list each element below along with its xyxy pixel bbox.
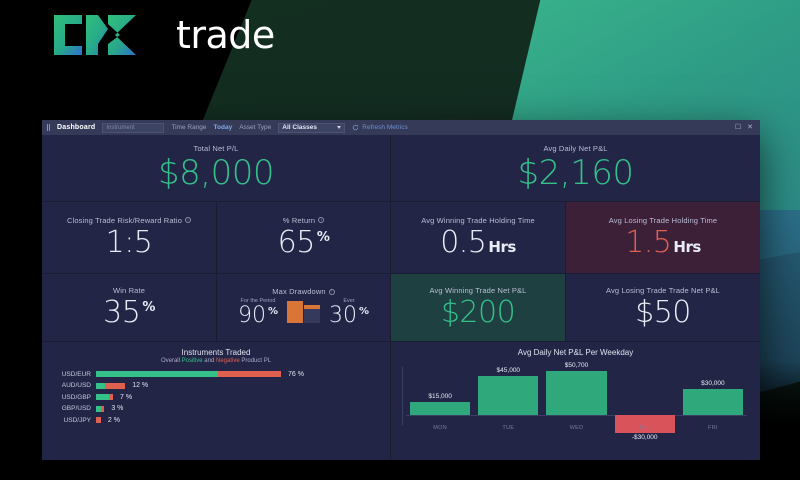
weekday-pl-panel: Avg Daily Net P&L Per Weekday $15,000MON… bbox=[391, 342, 760, 460]
subtitle-middle: and bbox=[203, 358, 216, 364]
kpi-row-2: Closing Trade Risk/Reward Ratio i 1:5 % … bbox=[42, 202, 760, 274]
instruments-traded-panel: Instruments Traded Overall Positive and … bbox=[42, 342, 391, 460]
info-icon[interactable]: i bbox=[318, 217, 324, 223]
pct-return-value: 65% bbox=[278, 225, 330, 260]
max-drawdown-ever-number: 30 bbox=[329, 303, 357, 328]
avg-lose-hold-number: 1.5 bbox=[625, 225, 671, 260]
window-title: Dashboard bbox=[57, 124, 95, 131]
win-rate-number: 35 bbox=[103, 295, 140, 330]
dashboard-content: Total Net P/L $8,000 Avg Daily Net P&L $… bbox=[42, 135, 760, 460]
pct-return-label: % Return bbox=[283, 216, 315, 225]
chart-bar-label: $45,000 bbox=[474, 367, 542, 374]
instrument-name: AUD/USD bbox=[51, 382, 91, 389]
instrument-percent: 7 % bbox=[120, 394, 132, 401]
screenshot-root: trade Dashboard Instrument Time Range To… bbox=[0, 0, 800, 480]
win-rate-unit: % bbox=[142, 300, 155, 315]
avg-win-hold-value: 0.5Hrs bbox=[440, 225, 516, 260]
asset-type-select[interactable]: All Classes bbox=[278, 123, 345, 133]
tile-avg-daily-net-pl[interactable]: Avg Daily Net P&L $2,160 bbox=[391, 135, 760, 202]
close-icon[interactable]: ✕ bbox=[747, 124, 753, 131]
tile-pct-return[interactable]: % Return i 65% bbox=[217, 202, 391, 274]
instrument-percent: 12 % bbox=[132, 382, 148, 389]
instrument-bar-positive bbox=[96, 371, 218, 377]
tile-total-net-pl[interactable]: Total Net P/L $8,000 bbox=[42, 135, 391, 202]
risk-reward-value: 1:5 bbox=[106, 225, 153, 260]
chart-bar-positive bbox=[683, 389, 743, 415]
bottom-panels: Instruments Traded Overall Positive and … bbox=[42, 342, 760, 460]
avg-win-net-pl-value: $200 bbox=[441, 295, 515, 330]
weekday-bar-chart: $15,000MON$45,000TUE$50,700WED-$30,000TH… bbox=[400, 361, 751, 439]
avg-lose-hold-value: 1.5Hrs bbox=[625, 225, 701, 260]
info-icon[interactable]: i bbox=[329, 289, 335, 295]
chart-column[interactable]: $30,000FRI bbox=[679, 361, 747, 439]
chart-bar-positive bbox=[478, 376, 538, 415]
instruments-list: USD/EUR76 %AUD/USD12 %USD/GBP7 %GBP/USD3… bbox=[51, 370, 381, 424]
kpi-row-3: Win Rate 35% Max Drawdown i For the Peri… bbox=[42, 274, 760, 342]
pct-return-unit: % bbox=[317, 230, 330, 245]
instrument-name: USD/EUR bbox=[51, 371, 91, 378]
chart-bar-label: $30,000 bbox=[679, 380, 747, 387]
avg-lose-net-pl-label: Avg Losing Trade Trade Net P&L bbox=[606, 286, 720, 295]
max-drawdown-label: Max Drawdown bbox=[272, 287, 325, 296]
info-icon[interactable]: i bbox=[185, 217, 191, 223]
total-net-pl-value: $8,000 bbox=[158, 153, 274, 193]
total-net-pl-label: Total Net P/L bbox=[194, 144, 239, 153]
tile-avg-losing-holding-time[interactable]: Avg Losing Trade Holding Time 1.5Hrs bbox=[566, 202, 760, 274]
instrument-row[interactable]: USD/GBP7 % bbox=[51, 393, 381, 401]
window-titlebar: Dashboard Instrument Time Range Today As… bbox=[42, 120, 760, 135]
asset-type-value: All Classes bbox=[282, 124, 317, 131]
chart-x-tick-label: THU bbox=[611, 425, 679, 431]
instrument-bar-positive bbox=[96, 383, 105, 389]
kpi-row-1: Total Net P/L $8,000 Avg Daily Net P&L $… bbox=[42, 135, 760, 202]
dx-mark-icon bbox=[52, 13, 170, 57]
max-drawdown-composite: For the Period 90% Ever 30% bbox=[238, 298, 369, 328]
instrument-bar bbox=[96, 394, 113, 400]
drawdown-bar-ever bbox=[304, 305, 320, 323]
tile-avg-winning-net-pl[interactable]: Avg Winning Trade Net P&L $200 bbox=[391, 274, 566, 342]
chart-column[interactable]: $15,000MON bbox=[406, 361, 474, 439]
instrument-bar-negative bbox=[105, 383, 126, 389]
instrument-bar bbox=[96, 406, 104, 412]
avg-win-hold-number: 0.5 bbox=[440, 225, 486, 260]
max-drawdown-ever-value: 30% bbox=[329, 303, 369, 328]
tile-avg-winning-holding-time[interactable]: Avg Winning Trade Holding Time 0.5Hrs bbox=[391, 202, 566, 274]
avg-win-hold-unit: Hrs bbox=[488, 238, 515, 256]
win-rate-label: Win Rate bbox=[113, 286, 145, 295]
refresh-metrics-button[interactable]: Refresh Metrics bbox=[352, 124, 408, 131]
instrument-row[interactable]: AUD/USD12 % bbox=[51, 382, 381, 390]
instrument-bar-negative bbox=[96, 417, 101, 423]
chevron-down-icon bbox=[337, 126, 341, 129]
chart-column[interactable]: $45,000TUE bbox=[474, 361, 542, 439]
chart-bar-label: -$30,000 bbox=[611, 434, 679, 441]
avg-win-net-pl-label: Avg Winning Trade Net P&L bbox=[430, 286, 527, 295]
time-range-label: Time Range bbox=[171, 124, 206, 131]
avg-daily-net-pl-value: $2,160 bbox=[518, 153, 634, 193]
instrument-bar bbox=[96, 371, 281, 377]
instrument-name: GBP/USD bbox=[51, 405, 91, 412]
window-controls: ☐ ✕ bbox=[735, 124, 755, 131]
instrument-bar-negative bbox=[218, 371, 281, 377]
instrument-bar bbox=[96, 383, 125, 389]
chart-x-tick-label: MON bbox=[406, 425, 474, 431]
instrument-bar-positive bbox=[96, 394, 109, 400]
instrument-percent: 3 % bbox=[111, 405, 123, 412]
avg-daily-net-pl-label: Avg Daily Net P&L bbox=[543, 144, 607, 153]
instruments-panel-subtitle: Overall Positive and Negative Product PL bbox=[51, 358, 381, 364]
instrument-bar-negative bbox=[101, 406, 104, 412]
max-drawdown-ever: Ever 30% bbox=[329, 298, 369, 328]
tile-risk-reward-ratio[interactable]: Closing Trade Risk/Reward Ratio i 1:5 bbox=[42, 202, 217, 274]
max-drawdown-ever-unit: % bbox=[359, 306, 369, 317]
asset-type-label: Asset Type bbox=[239, 124, 271, 131]
time-range-value[interactable]: Today bbox=[214, 124, 233, 131]
tile-avg-losing-net-pl[interactable]: Avg Losing Trade Trade Net P&L $50 bbox=[566, 274, 760, 342]
chart-x-tick-label: TUE bbox=[474, 425, 542, 431]
instrument-row[interactable]: USD/JPY2 % bbox=[51, 416, 381, 424]
instrument-bar-negative bbox=[109, 394, 113, 400]
chart-x-tick-label: FRI bbox=[679, 425, 747, 431]
avg-lose-net-pl-value: $50 bbox=[635, 295, 691, 330]
chart-x-tick-label: WED bbox=[542, 425, 610, 431]
win-rate-value: 35% bbox=[103, 295, 155, 330]
brand-logo: trade bbox=[52, 8, 275, 62]
dashboard-window: Dashboard Instrument Time Range Today As… bbox=[42, 120, 760, 460]
weekday-chart-title: Avg Daily Net P&L Per Weekday bbox=[400, 348, 751, 357]
instruments-panel-title: Instruments Traded bbox=[51, 348, 381, 357]
subtitle-positive: Positive bbox=[182, 358, 203, 364]
chart-bar-label: $15,000 bbox=[406, 393, 474, 400]
instrument-bar bbox=[96, 417, 101, 423]
brand-wordmark: trade bbox=[176, 13, 275, 57]
subtitle-suffix: Product PL bbox=[240, 358, 271, 364]
avg-lose-hold-label: Avg Losing Trade Holding Time bbox=[609, 216, 717, 225]
chart-y-axis bbox=[402, 367, 403, 425]
avg-lose-hold-unit: Hrs bbox=[673, 238, 700, 256]
instrument-row[interactable]: USD/EUR76 % bbox=[51, 370, 381, 378]
maximize-icon[interactable]: ☐ bbox=[735, 124, 741, 131]
drag-grip-icon[interactable] bbox=[47, 124, 50, 131]
instrument-name: USD/GBP bbox=[51, 394, 91, 401]
instrument-row[interactable]: GBP/USD3 % bbox=[51, 405, 381, 413]
risk-reward-label: Closing Trade Risk/Reward Ratio bbox=[67, 216, 182, 225]
max-drawdown-bar-icon bbox=[287, 301, 320, 323]
max-drawdown-period-number: 90 bbox=[238, 303, 266, 328]
refresh-metrics-label: Refresh Metrics bbox=[362, 124, 408, 131]
chart-column[interactable]: $50,700WED bbox=[542, 361, 610, 439]
pct-return-number: 65 bbox=[278, 225, 315, 260]
avg-win-hold-label: Avg Winning Trade Holding Time bbox=[421, 216, 535, 225]
chart-columns: $15,000MON$45,000TUE$50,700WED-$30,000TH… bbox=[406, 361, 747, 439]
chart-bar-positive bbox=[546, 371, 606, 415]
refresh-icon bbox=[352, 124, 359, 131]
subtitle-prefix: Overall bbox=[161, 358, 182, 364]
chart-bar-label: $50,700 bbox=[542, 362, 610, 369]
instrument-name: USD/JPY bbox=[51, 417, 91, 424]
tile-win-rate[interactable]: Win Rate 35% bbox=[42, 274, 217, 342]
chart-column[interactable]: -$30,000THU bbox=[611, 361, 679, 439]
max-drawdown-period-value: 90% bbox=[238, 303, 278, 328]
drawdown-bar-period bbox=[287, 301, 303, 323]
max-drawdown-period-unit: % bbox=[268, 306, 278, 317]
instrument-percent: 2 % bbox=[108, 417, 120, 424]
instrument-input[interactable]: Instrument bbox=[102, 123, 164, 133]
chart-bar-positive bbox=[410, 402, 470, 415]
instrument-percent: 76 % bbox=[288, 371, 304, 378]
max-drawdown-period: For the Period 90% bbox=[238, 298, 278, 328]
tile-max-drawdown[interactable]: Max Drawdown i For the Period 90% bbox=[217, 274, 391, 342]
subtitle-negative: Negative bbox=[216, 358, 240, 364]
